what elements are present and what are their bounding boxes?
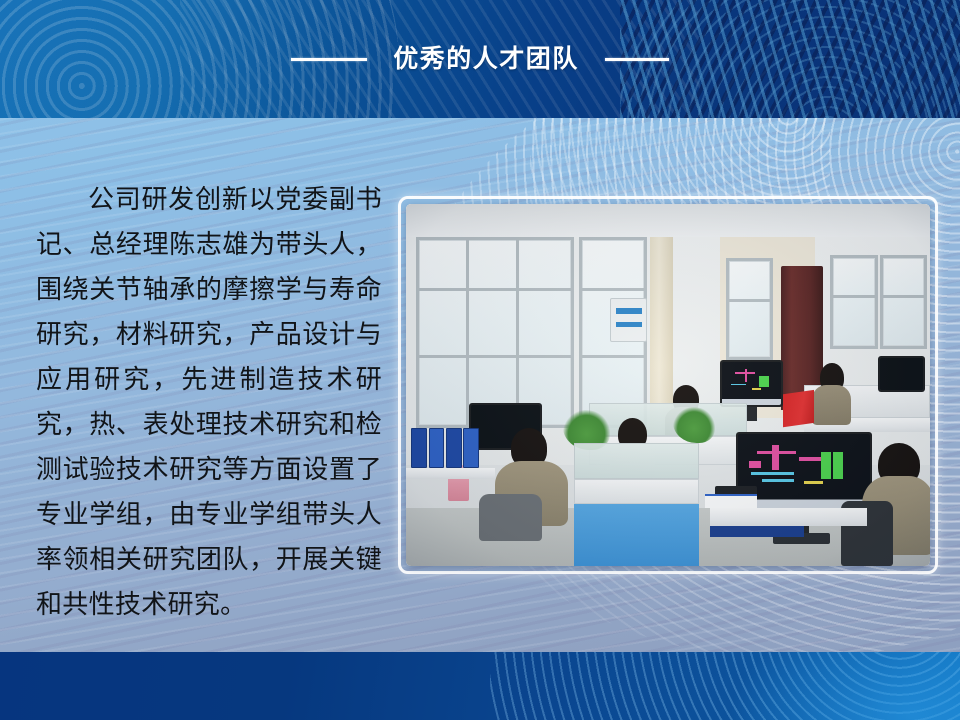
partition-glass-front — [574, 443, 700, 479]
header-banner: 优秀的人才团队 — [0, 0, 960, 118]
partition-blue-front — [574, 504, 700, 566]
monitor-mid-back — [720, 360, 783, 407]
desk-plant-2 — [673, 407, 715, 443]
title-rule-left — [291, 58, 367, 61]
ceiling — [406, 204, 930, 237]
page-title: 优秀的人才团队 — [393, 47, 579, 72]
desk-edge-front-right — [710, 526, 804, 537]
monitor-far-right — [878, 356, 925, 392]
partition-panel-front — [574, 479, 700, 504]
chair-front-left — [479, 494, 542, 541]
paper-stack — [705, 494, 757, 508]
title-row: 优秀的人才团队 — [0, 0, 960, 118]
binder-3 — [446, 428, 462, 468]
person-body-far-right — [812, 385, 851, 425]
photo-frame — [398, 196, 938, 574]
title-rule-right — [605, 58, 669, 61]
binder-2 — [429, 428, 445, 468]
window-right-2 — [880, 255, 927, 349]
cubicle-glass-middle — [589, 403, 746, 436]
window-right-1 — [830, 255, 877, 349]
footer-banner — [0, 652, 960, 720]
footer-glow — [730, 652, 960, 720]
desk-front-right — [710, 508, 867, 526]
slide-root: 优秀的人才团队 公司研发创新以党委副书记、总经理陈志雄为带头人，围绕关节轴承的摩… — [0, 0, 960, 720]
window-left — [416, 237, 573, 429]
office-photo — [406, 204, 930, 566]
binder-1 — [411, 428, 427, 468]
wall-notice-panel — [610, 298, 647, 341]
window-center — [726, 258, 773, 359]
body-paragraph: 公司研发创新以党委副书记、总经理陈志雄为带头人，围绕关节轴承的摩擦学与寿命研究，… — [36, 178, 382, 628]
desk-flag — [783, 390, 814, 427]
binder-4 — [463, 428, 479, 468]
photo-scene — [406, 204, 930, 566]
monitor-stand-mid-back — [747, 407, 757, 421]
desk-left — [406, 468, 495, 479]
